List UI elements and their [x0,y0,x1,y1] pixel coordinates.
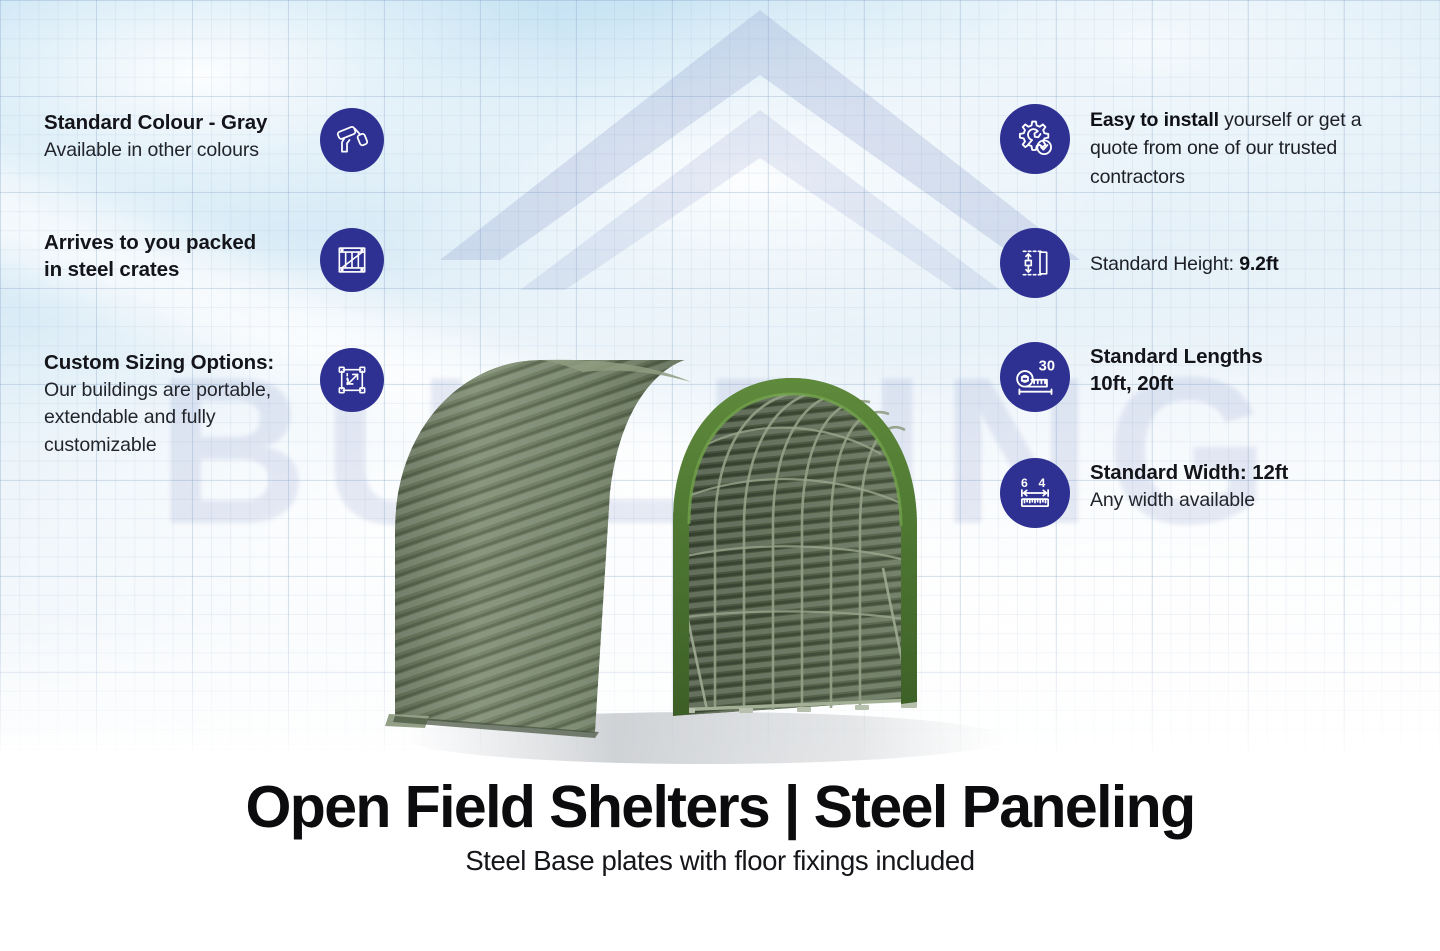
steel-crate-icon [320,228,384,292]
poster-canvas: BUILDING [0,0,1440,951]
feature-title: Standard Width: 12ft [1090,460,1410,487]
feature-easy-install: Easy to install yourself or get a quote … [1000,104,1410,191]
feature-title-line2: 10ft, 20ft [1090,371,1410,398]
width-ruler-icon: 6 4 [1000,458,1070,528]
feature-bold-lead: Easy to install [1090,109,1219,131]
feature-title: Standard Colour - Gray [44,110,302,137]
feature-text-block: Standard Height: 9.2ft [1070,248,1410,278]
tape-measure-label: 30 [1039,359,1055,375]
feature-title: Arrives to you packed [44,230,302,257]
feature-subtitle: Available in other colours [44,137,302,165]
ruler-label-right: 4 [1039,476,1046,490]
open-field-shelter-illustration [355,318,1045,768]
feature-label: Standard Height: [1090,253,1239,275]
resize-frame-icon [320,348,384,412]
feature-standard-width: 6 4 Standard Width: 12ft Any width avail… [1000,458,1410,528]
feature-text-block: Standard Colour - Gray Available in othe… [44,108,320,164]
feature-text-block: Arrives to you packed in steel crates [44,228,320,283]
feature-subtitle: Any width available [1090,487,1410,515]
feature-text-block: Custom Sizing Options: Our buildings are… [44,348,320,460]
feature-custom-sizing: Custom Sizing Options: Our buildings are… [44,348,384,460]
page-subtitle: Steel Base plates with floor fixings inc… [0,845,1440,877]
gear-wrench-check-icon [1000,104,1070,174]
feature-title: Custom Sizing Options: [44,350,302,377]
feature-standard-colour: Standard Colour - Gray Available in othe… [44,108,384,172]
feature-text-block: Standard Lengths 10ft, 20ft [1070,342,1410,397]
page-title: Open Field Shelters | Steel Paneling [0,777,1440,837]
feature-steel-crates: Arrives to you packed in steel crates [44,228,384,292]
feature-rich-text: Standard Height: 9.2ft [1090,250,1410,278]
feature-text-block: Easy to install yourself or get a quote … [1070,104,1410,191]
paint-roller-icon [320,108,384,172]
tape-measure-30-icon: 30 [1000,342,1070,412]
feature-text-block: Standard Width: 12ft Any width available [1070,458,1410,514]
feature-title: Standard Lengths [1090,344,1410,371]
height-measure-icon [1000,228,1070,298]
feature-title-line2: in steel crates [44,257,302,284]
feature-value: 9.2ft [1239,253,1278,275]
feature-subtitle: Our buildings are portable, extendable a… [44,377,292,460]
feature-standard-height: Standard Height: 9.2ft [1000,228,1410,298]
feature-rich-text: Easy to install yourself or get a quote … [1090,106,1410,191]
ruler-label-left: 6 [1021,476,1028,490]
feature-standard-lengths: 30 Standard Lengths 10ft, 20ft [1000,342,1410,412]
